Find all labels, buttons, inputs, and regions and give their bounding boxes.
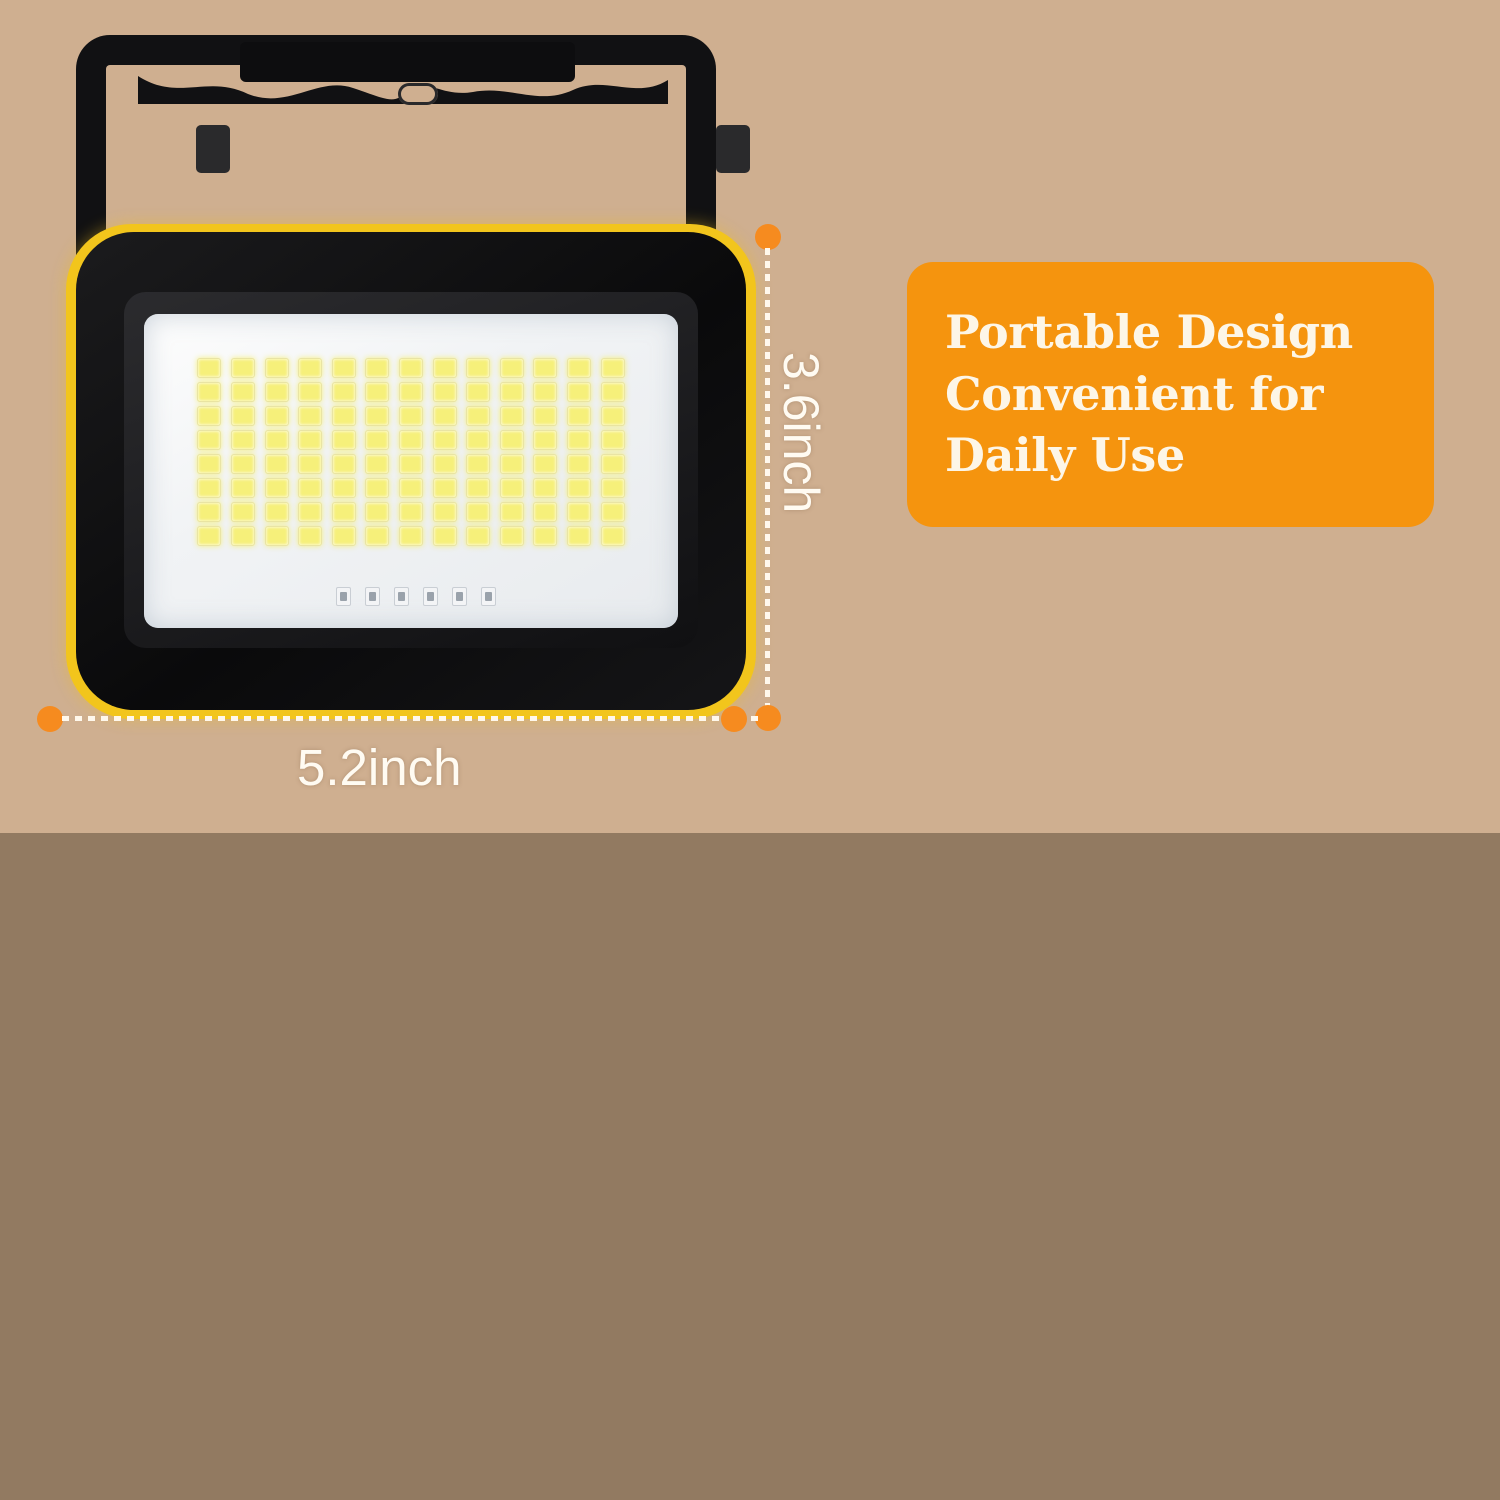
- led-chip: [231, 526, 255, 546]
- led-chip: [500, 382, 524, 402]
- led-row: [197, 502, 624, 522]
- led-chip: [466, 502, 490, 522]
- led-chip: [466, 478, 490, 498]
- led-chip: [231, 406, 255, 426]
- led-chip: [533, 358, 557, 378]
- led-chip: [466, 358, 490, 378]
- led-chip: [332, 358, 356, 378]
- led-chip: [399, 430, 423, 450]
- led-chip: [365, 502, 389, 522]
- led-chip: [231, 430, 255, 450]
- led-chip: [231, 358, 255, 378]
- bottom-section-panel: 180° 1.5inch 180 Rotation Angle: [0, 833, 1500, 1500]
- led-chip: [298, 358, 322, 378]
- led-chip: [433, 406, 457, 426]
- led-chip: [197, 358, 221, 378]
- led-chip: [231, 502, 255, 522]
- led-chip: [433, 502, 457, 522]
- led-chip: [500, 478, 524, 498]
- led-chip: [365, 382, 389, 402]
- led-chip: [332, 406, 356, 426]
- height-dimension-label: 3.6inch: [772, 352, 830, 513]
- led-row: [197, 454, 624, 474]
- indicator-led: [481, 587, 496, 606]
- indicator-led-row: [336, 587, 496, 606]
- indicator-led: [452, 587, 467, 606]
- led-chip: [433, 454, 457, 474]
- led-chip: [533, 406, 557, 426]
- led-chip: [365, 526, 389, 546]
- led-chip: [399, 382, 423, 402]
- led-chip: [265, 526, 289, 546]
- led-chip: [601, 478, 625, 498]
- led-chip: [265, 502, 289, 522]
- led-row: [197, 430, 624, 450]
- led-chip: [332, 382, 356, 402]
- callout-line: Portable Design: [945, 303, 1396, 363]
- led-chip: [265, 430, 289, 450]
- led-row: [197, 478, 624, 498]
- led-chip: [433, 430, 457, 450]
- led-lens-panel: [144, 314, 678, 628]
- led-chip: [433, 382, 457, 402]
- led-chip: [197, 454, 221, 474]
- led-chip: [298, 526, 322, 546]
- led-chip: [231, 454, 255, 474]
- indicator-led: [394, 587, 409, 606]
- led-chip: [231, 478, 255, 498]
- led-chip: [533, 382, 557, 402]
- indicator-led: [423, 587, 438, 606]
- led-chip: [567, 358, 591, 378]
- led-array: [197, 358, 624, 546]
- led-chip: [197, 478, 221, 498]
- led-chip: [365, 478, 389, 498]
- led-chip: [365, 430, 389, 450]
- led-chip: [567, 526, 591, 546]
- led-chip: [298, 478, 322, 498]
- led-chip: [332, 502, 356, 522]
- led-chip: [332, 454, 356, 474]
- width-dimension-dot-right: [721, 706, 747, 732]
- indicator-led: [336, 587, 351, 606]
- product-image-front-view: [28, 28, 748, 718]
- height-dimension-dot-top: [755, 224, 781, 250]
- led-chip: [197, 526, 221, 546]
- led-chip: [533, 454, 557, 474]
- led-chip: [533, 478, 557, 498]
- led-chip: [332, 478, 356, 498]
- led-chip: [601, 358, 625, 378]
- width-dimension-label: 5.2inch: [297, 738, 461, 797]
- width-dimension-dot-left: [37, 706, 63, 732]
- led-chip: [500, 502, 524, 522]
- led-chip: [433, 358, 457, 378]
- led-chip: [265, 478, 289, 498]
- height-dimension-line: [765, 248, 770, 710]
- led-chip: [265, 382, 289, 402]
- led-chip: [298, 406, 322, 426]
- led-row: [197, 406, 624, 426]
- led-chip: [466, 454, 490, 474]
- led-chip: [500, 406, 524, 426]
- led-chip: [567, 478, 591, 498]
- callout-portable-design: Portable Design Convenient for Daily Use: [907, 262, 1434, 527]
- led-chip: [567, 382, 591, 402]
- led-chip: [332, 430, 356, 450]
- led-chip: [466, 526, 490, 546]
- led-chip: [365, 454, 389, 474]
- hanging-hole: [398, 83, 438, 105]
- led-chip: [466, 382, 490, 402]
- led-chip: [265, 358, 289, 378]
- led-chip: [298, 454, 322, 474]
- led-chip: [197, 406, 221, 426]
- light-housing: [76, 232, 746, 710]
- led-chip: [533, 502, 557, 522]
- led-chip: [601, 454, 625, 474]
- led-chip: [197, 382, 221, 402]
- led-chip: [567, 502, 591, 522]
- led-chip: [601, 382, 625, 402]
- led-chip: [265, 406, 289, 426]
- led-chip: [399, 454, 423, 474]
- led-chip: [601, 430, 625, 450]
- led-chip: [197, 430, 221, 450]
- led-chip: [500, 430, 524, 450]
- led-chip: [332, 526, 356, 546]
- width-dimension-line: [62, 716, 762, 721]
- top-section-panel: 3.6inch 5.2inch Portable Design Convenie…: [0, 0, 1500, 833]
- led-chip: [533, 526, 557, 546]
- yellow-bezel: [66, 224, 756, 719]
- led-chip: [567, 430, 591, 450]
- led-chip: [601, 406, 625, 426]
- led-chip: [466, 406, 490, 426]
- led-row: [197, 358, 624, 378]
- handle-lug-right: [716, 125, 750, 173]
- led-chip: [399, 502, 423, 522]
- led-row: [197, 382, 624, 402]
- led-chip: [231, 382, 255, 402]
- led-chip: [298, 382, 322, 402]
- led-chip: [298, 430, 322, 450]
- led-chip: [399, 358, 423, 378]
- led-chip: [365, 358, 389, 378]
- led-chip: [399, 406, 423, 426]
- led-chip: [500, 526, 524, 546]
- led-row: [197, 526, 624, 546]
- led-chip: [567, 406, 591, 426]
- infographic-canvas: 3.6inch 5.2inch Portable Design Convenie…: [0, 0, 1500, 1500]
- led-chip: [601, 502, 625, 522]
- led-chip: [533, 430, 557, 450]
- led-chip: [433, 478, 457, 498]
- handle-lug-left: [196, 125, 230, 173]
- led-chip: [399, 526, 423, 546]
- led-chip: [433, 526, 457, 546]
- led-chip: [265, 454, 289, 474]
- led-chip: [197, 502, 221, 522]
- led-chip: [399, 478, 423, 498]
- callout-line: Daily Use: [945, 426, 1396, 486]
- led-chip: [298, 502, 322, 522]
- led-chip: [567, 454, 591, 474]
- led-chip: [500, 358, 524, 378]
- callout-line: Convenient for: [945, 365, 1396, 425]
- led-chip: [500, 454, 524, 474]
- led-chip: [601, 526, 625, 546]
- led-chip: [466, 430, 490, 450]
- led-chip: [365, 406, 389, 426]
- indicator-led: [365, 587, 380, 606]
